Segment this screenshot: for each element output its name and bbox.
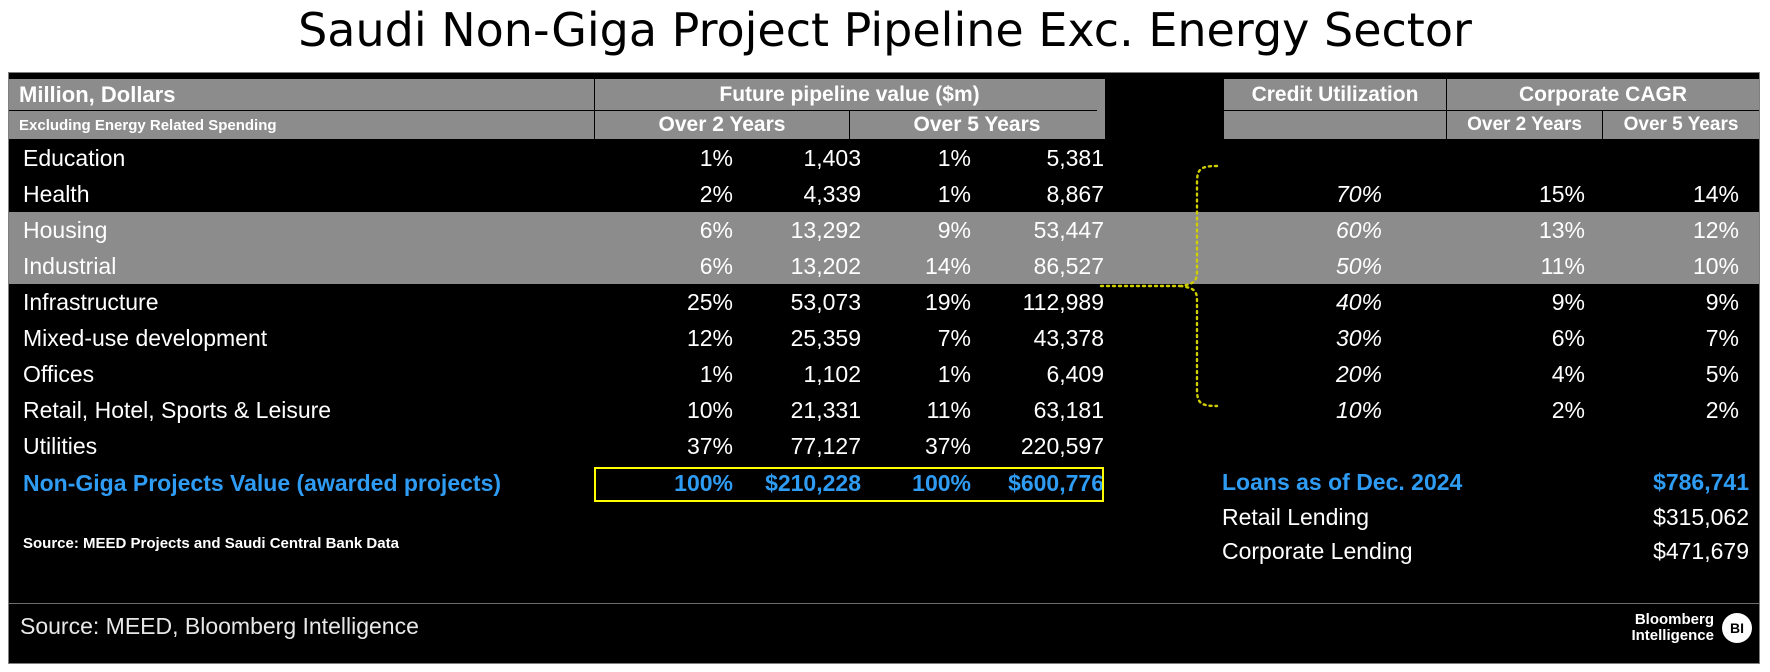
cagr-5y-value: 5% bbox=[1599, 361, 1749, 388]
header-cagr-over-2-years: Over 2 Years bbox=[1447, 111, 1602, 139]
table-row: Utilities37%77,12737%220,597 bbox=[9, 428, 1759, 464]
table-row: Mixed-use development12%25,3597%43,37830… bbox=[9, 320, 1759, 356]
pipeline-value-2y: 13,202 bbox=[733, 253, 861, 280]
header-cagr-over-5-years: Over 5 Years bbox=[1603, 111, 1759, 139]
sector-label: Utilities bbox=[9, 433, 595, 460]
pipeline-pct-2y: 25% bbox=[595, 289, 733, 316]
pipeline-pct-2y: 6% bbox=[595, 217, 733, 244]
table-row: Health2%4,3391%8,86770%15%14% bbox=[9, 176, 1759, 212]
sector-label: Mixed-use development bbox=[9, 325, 595, 352]
header-future-pipeline-value: Future pipeline value ($m) bbox=[595, 79, 1104, 110]
pipeline-pct-5y: 37% bbox=[861, 433, 971, 460]
pipeline-pct-5y: 1% bbox=[861, 181, 971, 208]
pipeline-pct-2y: 1% bbox=[595, 361, 733, 388]
pipeline-pct-5y: 9% bbox=[861, 217, 971, 244]
header-pipeline-over-5-years: Over 5 Years bbox=[850, 111, 1104, 139]
loans-total-label: Loans as of Dec. 2024 bbox=[1222, 469, 1462, 496]
credit-utilization-value: 20% bbox=[1222, 361, 1444, 388]
table-body: Education1%1,4031%5,381Health2%4,3391%8,… bbox=[9, 140, 1759, 464]
cagr-2y-value: 4% bbox=[1444, 361, 1599, 388]
pipeline-value-2y: 53,073 bbox=[733, 289, 861, 316]
pipeline-value-5y: 43,378 bbox=[971, 325, 1104, 352]
sector-label: Infrastructure bbox=[9, 289, 595, 316]
pipeline-pct-2y: 10% bbox=[595, 397, 733, 424]
credit-utilization-value: 40% bbox=[1222, 289, 1444, 316]
header-pipeline-over-2-years: Over 2 Years bbox=[595, 111, 849, 139]
corporate-lending-amount: $471,679 bbox=[1653, 538, 1759, 565]
pipeline-value-5y: 86,527 bbox=[971, 253, 1104, 280]
pipeline-value-2y: 21,331 bbox=[733, 397, 861, 424]
pipeline-value-2y: 13,292 bbox=[733, 217, 861, 244]
table-row: Infrastructure25%53,07319%112,98940%9%9% bbox=[9, 284, 1759, 320]
sector-label: Industrial bbox=[9, 253, 595, 280]
corporate-lending-row: Corporate Lending $471,679 bbox=[1222, 534, 1759, 568]
pipeline-pct-2y: 6% bbox=[595, 253, 733, 280]
cagr-2y-value: 6% bbox=[1444, 325, 1599, 352]
total-val-2y: $210,228 bbox=[733, 470, 861, 497]
sector-label: Retail, Hotel, Sports & Leisure bbox=[9, 397, 595, 424]
bloomberg-logo-line1: Bloomberg bbox=[1631, 612, 1714, 628]
pipeline-value-5y: 5,381 bbox=[971, 145, 1104, 172]
table-row: Offices1%1,1021%6,40920%4%5% bbox=[9, 356, 1759, 392]
sector-label: Health bbox=[9, 181, 595, 208]
pipeline-value-5y: 8,867 bbox=[971, 181, 1104, 208]
pipeline-pct-5y: 19% bbox=[861, 289, 971, 316]
credit-utilization-value: 60% bbox=[1222, 217, 1444, 244]
cagr-2y-value: 13% bbox=[1444, 217, 1599, 244]
cagr-5y-value: 12% bbox=[1599, 217, 1749, 244]
bloomberg-logo-text: Bloomberg Intelligence bbox=[1631, 612, 1714, 644]
header-gap-notch bbox=[1105, 79, 1223, 139]
cagr-5y-value: 10% bbox=[1599, 253, 1749, 280]
loans-total-amount: $786,741 bbox=[1653, 469, 1759, 496]
credit-utilization-value: 70% bbox=[1222, 181, 1444, 208]
brace-connector-icon bbox=[1095, 160, 1225, 410]
cagr-2y-value: 2% bbox=[1444, 397, 1599, 424]
pipeline-pct-5y: 11% bbox=[861, 397, 971, 424]
retail-lending-amount: $315,062 bbox=[1653, 504, 1759, 531]
pipeline-pct-2y: 2% bbox=[595, 181, 733, 208]
cagr-2y-value: 11% bbox=[1444, 253, 1599, 280]
retail-lending-label: Retail Lending bbox=[1222, 504, 1369, 531]
header-units-sublabel: Excluding Energy Related Spending bbox=[9, 111, 594, 139]
sector-label: Offices bbox=[9, 361, 595, 388]
page-title: Saudi Non-Giga Project Pipeline Exc. Ene… bbox=[0, 0, 1770, 64]
retail-lending-row: Retail Lending $315,062 bbox=[1222, 500, 1759, 534]
pipeline-value-5y: 63,181 bbox=[971, 397, 1104, 424]
pipeline-value-5y: 220,597 bbox=[971, 433, 1104, 460]
pipeline-value-5y: 6,409 bbox=[971, 361, 1104, 388]
cagr-5y-value: 2% bbox=[1599, 397, 1749, 424]
pipeline-value-2y: 1,102 bbox=[733, 361, 861, 388]
sector-label: Housing bbox=[9, 217, 595, 244]
source-note: Source: MEED Projects and Saudi Central … bbox=[23, 535, 399, 552]
credit-utilization-value: 10% bbox=[1222, 397, 1444, 424]
cagr-2y-value: 9% bbox=[1444, 289, 1599, 316]
infographic-root: Saudi Non-Giga Project Pipeline Exc. Ene… bbox=[0, 0, 1770, 672]
bloomberg-intelligence-logo: Bloomberg Intelligence BI bbox=[1631, 612, 1752, 644]
cagr-2y-value: 15% bbox=[1444, 181, 1599, 208]
credit-utilization-value: 30% bbox=[1222, 325, 1444, 352]
pipeline-pct-5y: 1% bbox=[861, 145, 971, 172]
pipeline-pct-5y: 7% bbox=[861, 325, 971, 352]
pipeline-value-2y: 4,339 bbox=[733, 181, 861, 208]
total-val-5y: $600,776 bbox=[971, 470, 1104, 497]
pipeline-pct-5y: 14% bbox=[861, 253, 971, 280]
pipeline-value-2y: 25,359 bbox=[733, 325, 861, 352]
corporate-lending-label: Corporate Lending bbox=[1222, 538, 1413, 565]
table-row: Housing6%13,2929%53,44760%13%12% bbox=[9, 212, 1759, 248]
header-units-label: Million, Dollars bbox=[9, 79, 594, 110]
header-corporate-cagr: Corporate CAGR bbox=[1447, 79, 1759, 110]
cagr-5y-value: 7% bbox=[1599, 325, 1749, 352]
loans-total-row: Loans as of Dec. 2024 $786,741 bbox=[1222, 465, 1759, 499]
header-credit-utilization-spacer bbox=[1224, 111, 1446, 139]
total-label: Non-Giga Projects Value (awarded project… bbox=[9, 470, 595, 497]
header-credit-utilization: Credit Utilization bbox=[1224, 79, 1446, 110]
table-row: Retail, Hotel, Sports & Leisure10%21,331… bbox=[9, 392, 1759, 428]
pipeline-value-2y: 77,127 bbox=[733, 433, 861, 460]
pipeline-value-2y: 1,403 bbox=[733, 145, 861, 172]
credit-utilization-value: 50% bbox=[1222, 253, 1444, 280]
cagr-5y-value: 9% bbox=[1599, 289, 1749, 316]
pipeline-value-5y: 112,989 bbox=[971, 289, 1104, 316]
header-column-sliver bbox=[1097, 79, 1105, 139]
total-pct-5y: 100% bbox=[861, 470, 971, 497]
source-footer: Source: MEED, Bloomberg Intelligence bbox=[20, 613, 419, 640]
pipeline-pct-2y: 1% bbox=[595, 145, 733, 172]
cagr-5y-value: 14% bbox=[1599, 181, 1749, 208]
pipeline-pct-2y: 37% bbox=[595, 433, 733, 460]
footer-divider bbox=[9, 603, 1759, 604]
pipeline-pct-5y: 1% bbox=[861, 361, 971, 388]
table-row: Education1%1,4031%5,381 bbox=[9, 140, 1759, 176]
pipeline-pct-2y: 12% bbox=[595, 325, 733, 352]
total-pct-2y: 100% bbox=[595, 470, 733, 497]
sector-label: Education bbox=[9, 145, 595, 172]
bi-badge-icon: BI bbox=[1722, 613, 1752, 643]
pipeline-value-5y: 53,447 bbox=[971, 217, 1104, 244]
bloomberg-logo-line2: Intelligence bbox=[1631, 628, 1714, 644]
table-row: Industrial6%13,20214%86,52750%11%10% bbox=[9, 248, 1759, 284]
